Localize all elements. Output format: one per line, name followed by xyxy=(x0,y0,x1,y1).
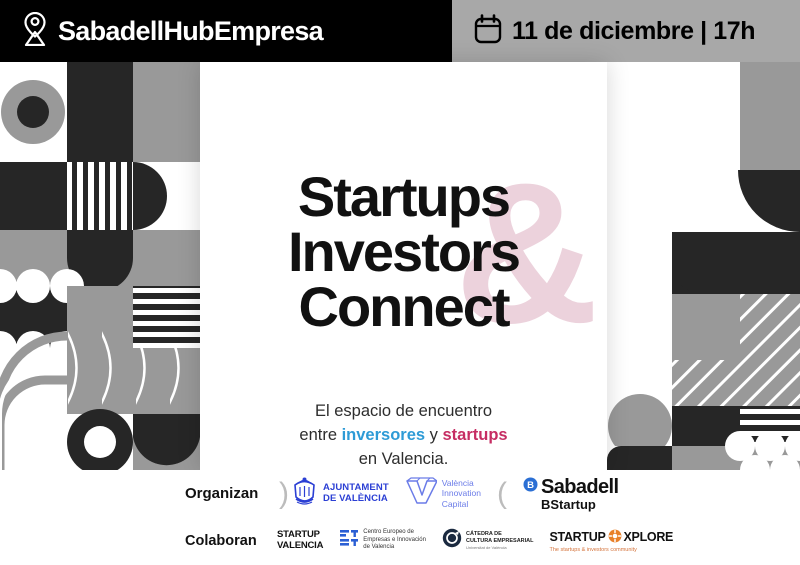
xplore-star-icon xyxy=(608,529,622,546)
title-line-2: Investors xyxy=(200,225,607,280)
subtitle: El espacio de encuentro entre inversores… xyxy=(200,400,607,470)
catedra-line-3: Universitat de València xyxy=(466,545,534,550)
divider-left: ) xyxy=(279,477,289,511)
startup-xplore-word-2: XPLORE xyxy=(624,530,674,544)
catedra-line-2: CULTURA EMPRESARIAL xyxy=(466,538,534,545)
organizan-label: Organizan xyxy=(185,485,277,502)
sabadell-name: Sabadell xyxy=(541,476,618,499)
colaboran-label: Colaboran xyxy=(185,533,277,549)
vic-line-3: Capital xyxy=(442,499,481,509)
brand-title: SabadellHubEmpresa xyxy=(58,16,323,47)
ceei-line-3: de Valencia xyxy=(363,544,426,552)
subtitle-mid: y xyxy=(425,426,442,444)
startup-valencia-line-1: STARTUP xyxy=(277,530,323,540)
ceei-line-1: Centro Europeo de xyxy=(363,529,426,537)
title-line-1: Startups xyxy=(200,170,607,225)
subtitle-line-3: en Valencia. xyxy=(200,448,607,470)
logo-ajuntament-de-valencia[interactable]: AJUNTAMENT DE VALÈNCIA xyxy=(291,476,389,511)
logo-startup-valencia[interactable]: STARTUP VALENCIA xyxy=(277,530,323,551)
sabadell-top: B Sabadell xyxy=(523,476,618,499)
catedra-line-1: CÁTEDRA DE xyxy=(466,531,534,538)
bstartup-name: BStartup xyxy=(541,497,596,512)
logo-startup-xplore[interactable]: STARTUP XPLORE xyxy=(550,529,674,553)
letter-v-3d-icon xyxy=(403,475,437,512)
vic-text: València Innovation Capital xyxy=(442,478,481,509)
page-title: Startups Investors Connect xyxy=(200,170,607,335)
poster-header: SabadellHubEmpresa 11 de diciembre | 17h xyxy=(0,0,800,62)
ceei-bars-icon xyxy=(339,528,359,553)
startup-xplore-word-1: STARTUP xyxy=(550,530,606,544)
vic-line-2: Innovation xyxy=(442,488,481,498)
title-line-3: Connect xyxy=(200,280,607,335)
vic-line-1: València xyxy=(442,478,481,488)
logo-catedra-cultura-empresarial[interactable]: CÁTEDRA DE CULTURA EMPRESARIAL Universit… xyxy=(442,528,534,553)
event-poster: SabadellHubEmpresa 11 de diciembre | 17h… xyxy=(0,0,800,565)
startup-xplore-tagline: The startups & investors community xyxy=(550,547,674,553)
logo-valencia-innovation-capital[interactable]: València Innovation Capital xyxy=(403,475,481,512)
ceei-line-2: Empresas e Innovación xyxy=(363,537,426,545)
coat-of-arms-icon xyxy=(291,476,318,511)
organizan-row: Organizan ) xyxy=(0,470,800,517)
divider-right: ( xyxy=(497,477,507,511)
event-date: 11 de diciembre | 17h xyxy=(512,17,755,46)
colaboran-logos: STARTUP VALENCIA xyxy=(277,528,673,553)
sponsors-footer: Organizan ) xyxy=(0,470,800,565)
ajuntament-line-1: AJUNTAMENT xyxy=(323,483,389,494)
ajuntament-text: AJUNTAMENT DE VALÈNCIA xyxy=(323,483,389,504)
svg-text:B: B xyxy=(527,480,534,491)
header-brand-block: SabadellHubEmpresa xyxy=(0,0,452,62)
subtitle-line-1: El espacio de encuentro xyxy=(200,400,607,424)
main-content-card: & Startups Investors Connect El espacio … xyxy=(200,62,607,470)
catedra-circle-icon xyxy=(442,528,462,553)
location-pin-person-icon xyxy=(22,12,48,51)
header-date-block: 11 de diciembre | 17h xyxy=(452,0,800,62)
ajuntament-line-2: DE VALÈNCIA xyxy=(323,494,389,505)
sabadell-b-icon: B xyxy=(523,477,538,497)
subtitle-pre: entre xyxy=(299,426,341,444)
logo-sabadell-bstartup[interactable]: B Sabadell BStartup xyxy=(523,476,618,512)
logo-ceei-valencia[interactable]: Centro Europeo de Empresas e Innovación … xyxy=(339,528,426,553)
startup-valencia-line-2: VALENCIA xyxy=(277,541,323,551)
subtitle-line-2: entre inversores y startups xyxy=(200,424,607,448)
ceei-text: Centro Europeo de Empresas e Innovación … xyxy=(363,529,426,552)
colaboran-row: Colaboran STARTUP VALENCIA xyxy=(0,517,800,564)
calendar-icon xyxy=(474,14,502,49)
catedra-text: CÁTEDRA DE CULTURA EMPRESARIAL Universit… xyxy=(466,531,534,550)
organizan-logos: AJUNTAMENT DE VALÈNCIA Valè xyxy=(291,475,618,512)
subtitle-inversores: inversores xyxy=(342,426,425,444)
startup-xplore-top: STARTUP XPLORE xyxy=(550,529,674,546)
subtitle-startups: startups xyxy=(442,426,507,444)
